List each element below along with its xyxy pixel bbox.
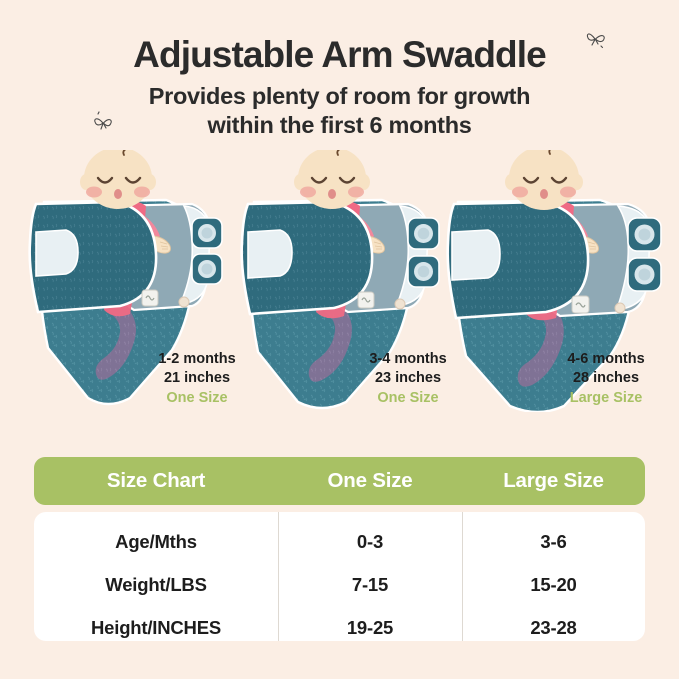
brand-tag (142, 290, 158, 306)
infographic-page: Adjustable Arm Swaddle Provides plenty o… (0, 0, 679, 679)
brand-tag (572, 296, 589, 313)
row-large-size: 3-6 (462, 531, 645, 553)
size-chart-header-one-size: One Size (278, 469, 462, 493)
adjustable-tab-upper (408, 218, 439, 249)
column-divider (278, 512, 279, 641)
table-row: Weight/LBS 7-15 15-20 (34, 563, 645, 606)
size-chart-header-label: Size Chart (34, 469, 278, 493)
subtitle-line-2: within the first 6 months (0, 111, 679, 140)
row-label: Age/Mths (34, 531, 278, 553)
caption-length: 28 inches (540, 369, 672, 388)
caption-length: 23 inches (338, 369, 478, 388)
caption-size: Large Size (540, 388, 672, 408)
adjustable-tab-lower (408, 256, 439, 287)
row-label: Height/INCHES (34, 617, 278, 639)
row-one-size: 0-3 (278, 531, 462, 553)
page-title: Adjustable Arm Swaddle (0, 0, 679, 75)
size-chart-header-large-size: Large Size (462, 469, 645, 493)
swaddle-small: 1-2 months 21 inches One Size (14, 150, 229, 410)
caption-age: 4-6 months (540, 350, 672, 369)
swaddle-illustration-row: 1-2 months 21 inches One Size (0, 150, 679, 420)
size-chart-body: Age/Mths 0-3 3-6 Weight/LBS 7-15 15-20 H… (34, 512, 645, 641)
column-divider (462, 512, 463, 641)
caption-swaddle-large: 4-6 months 28 inches Large Size (540, 350, 672, 408)
row-one-size: 19-25 (278, 617, 462, 639)
caption-age: 1-2 months (132, 350, 262, 369)
adjustable-tab-upper (628, 218, 661, 251)
subtitle-line-1: Provides plenty of room for growth (0, 82, 679, 111)
adjustable-tab-lower (192, 254, 222, 284)
row-large-size: 15-20 (462, 574, 645, 596)
adjustable-tab-upper (192, 218, 222, 248)
row-large-size: 23-28 (462, 617, 645, 639)
caption-swaddle-small: 1-2 months 21 inches One Size (132, 350, 262, 408)
row-label: Weight/LBS (34, 574, 278, 596)
caption-age: 3-4 months (338, 350, 478, 369)
size-chart-header: Size Chart One Size Large Size (34, 457, 645, 505)
caption-length: 21 inches (132, 369, 262, 388)
caption-swaddle-medium: 3-4 months 23 inches One Size (338, 350, 478, 408)
adjustable-tab-lower (628, 258, 661, 291)
table-row: Age/Mths 0-3 3-6 (34, 520, 645, 563)
caption-size: One Size (338, 388, 478, 408)
table-row: Height/INCHES 19-25 23-28 (34, 606, 645, 641)
page-subtitle: Provides plenty of room for growth withi… (0, 75, 679, 140)
brand-tag (358, 292, 374, 308)
caption-size: One Size (132, 388, 262, 408)
row-one-size: 7-15 (278, 574, 462, 596)
header: Adjustable Arm Swaddle Provides plenty o… (0, 0, 679, 140)
